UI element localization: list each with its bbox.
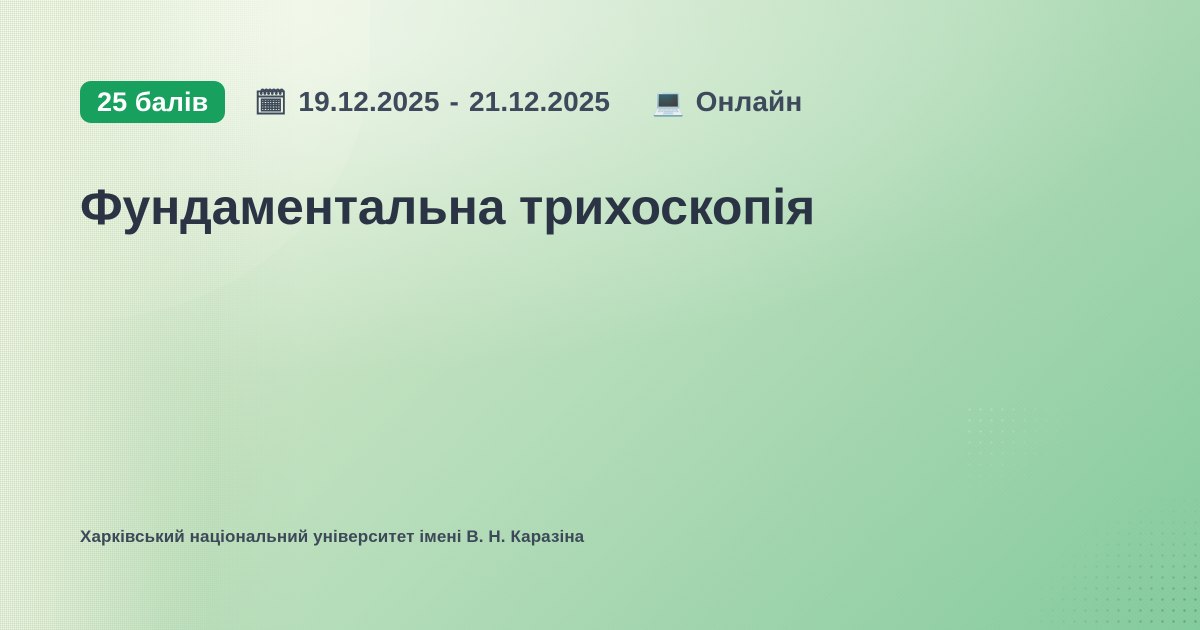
calendar-icon: 🗓 [254, 89, 287, 115]
event-format-label: Онлайн [696, 88, 803, 116]
event-card: 25 балів 🗓 19.12.2025 - 21.12.2025 💻 Онл… [0, 0, 1200, 630]
organiser-name: Харківський національний університет іме… [80, 526, 584, 548]
points-badge: 25 балів [80, 81, 225, 123]
event-meta-row: 25 балів 🗓 19.12.2025 - 21.12.2025 💻 Онл… [80, 80, 802, 124]
date-separator: - [440, 88, 469, 116]
date-range: 19.12.2025 - 21.12.2025 [298, 88, 610, 116]
event-format: 💻 Онлайн [652, 88, 802, 116]
event-dates: 🗓 19.12.2025 - 21.12.2025 [254, 88, 610, 116]
laptop-icon: 💻 [652, 89, 684, 115]
event-title: Фундаментальна трихоскопія [80, 178, 815, 237]
date-start: 19.12.2025 [298, 88, 439, 116]
date-end: 21.12.2025 [469, 88, 610, 116]
card-content: 25 балів 🗓 19.12.2025 - 21.12.2025 💻 Онл… [0, 0, 1200, 630]
